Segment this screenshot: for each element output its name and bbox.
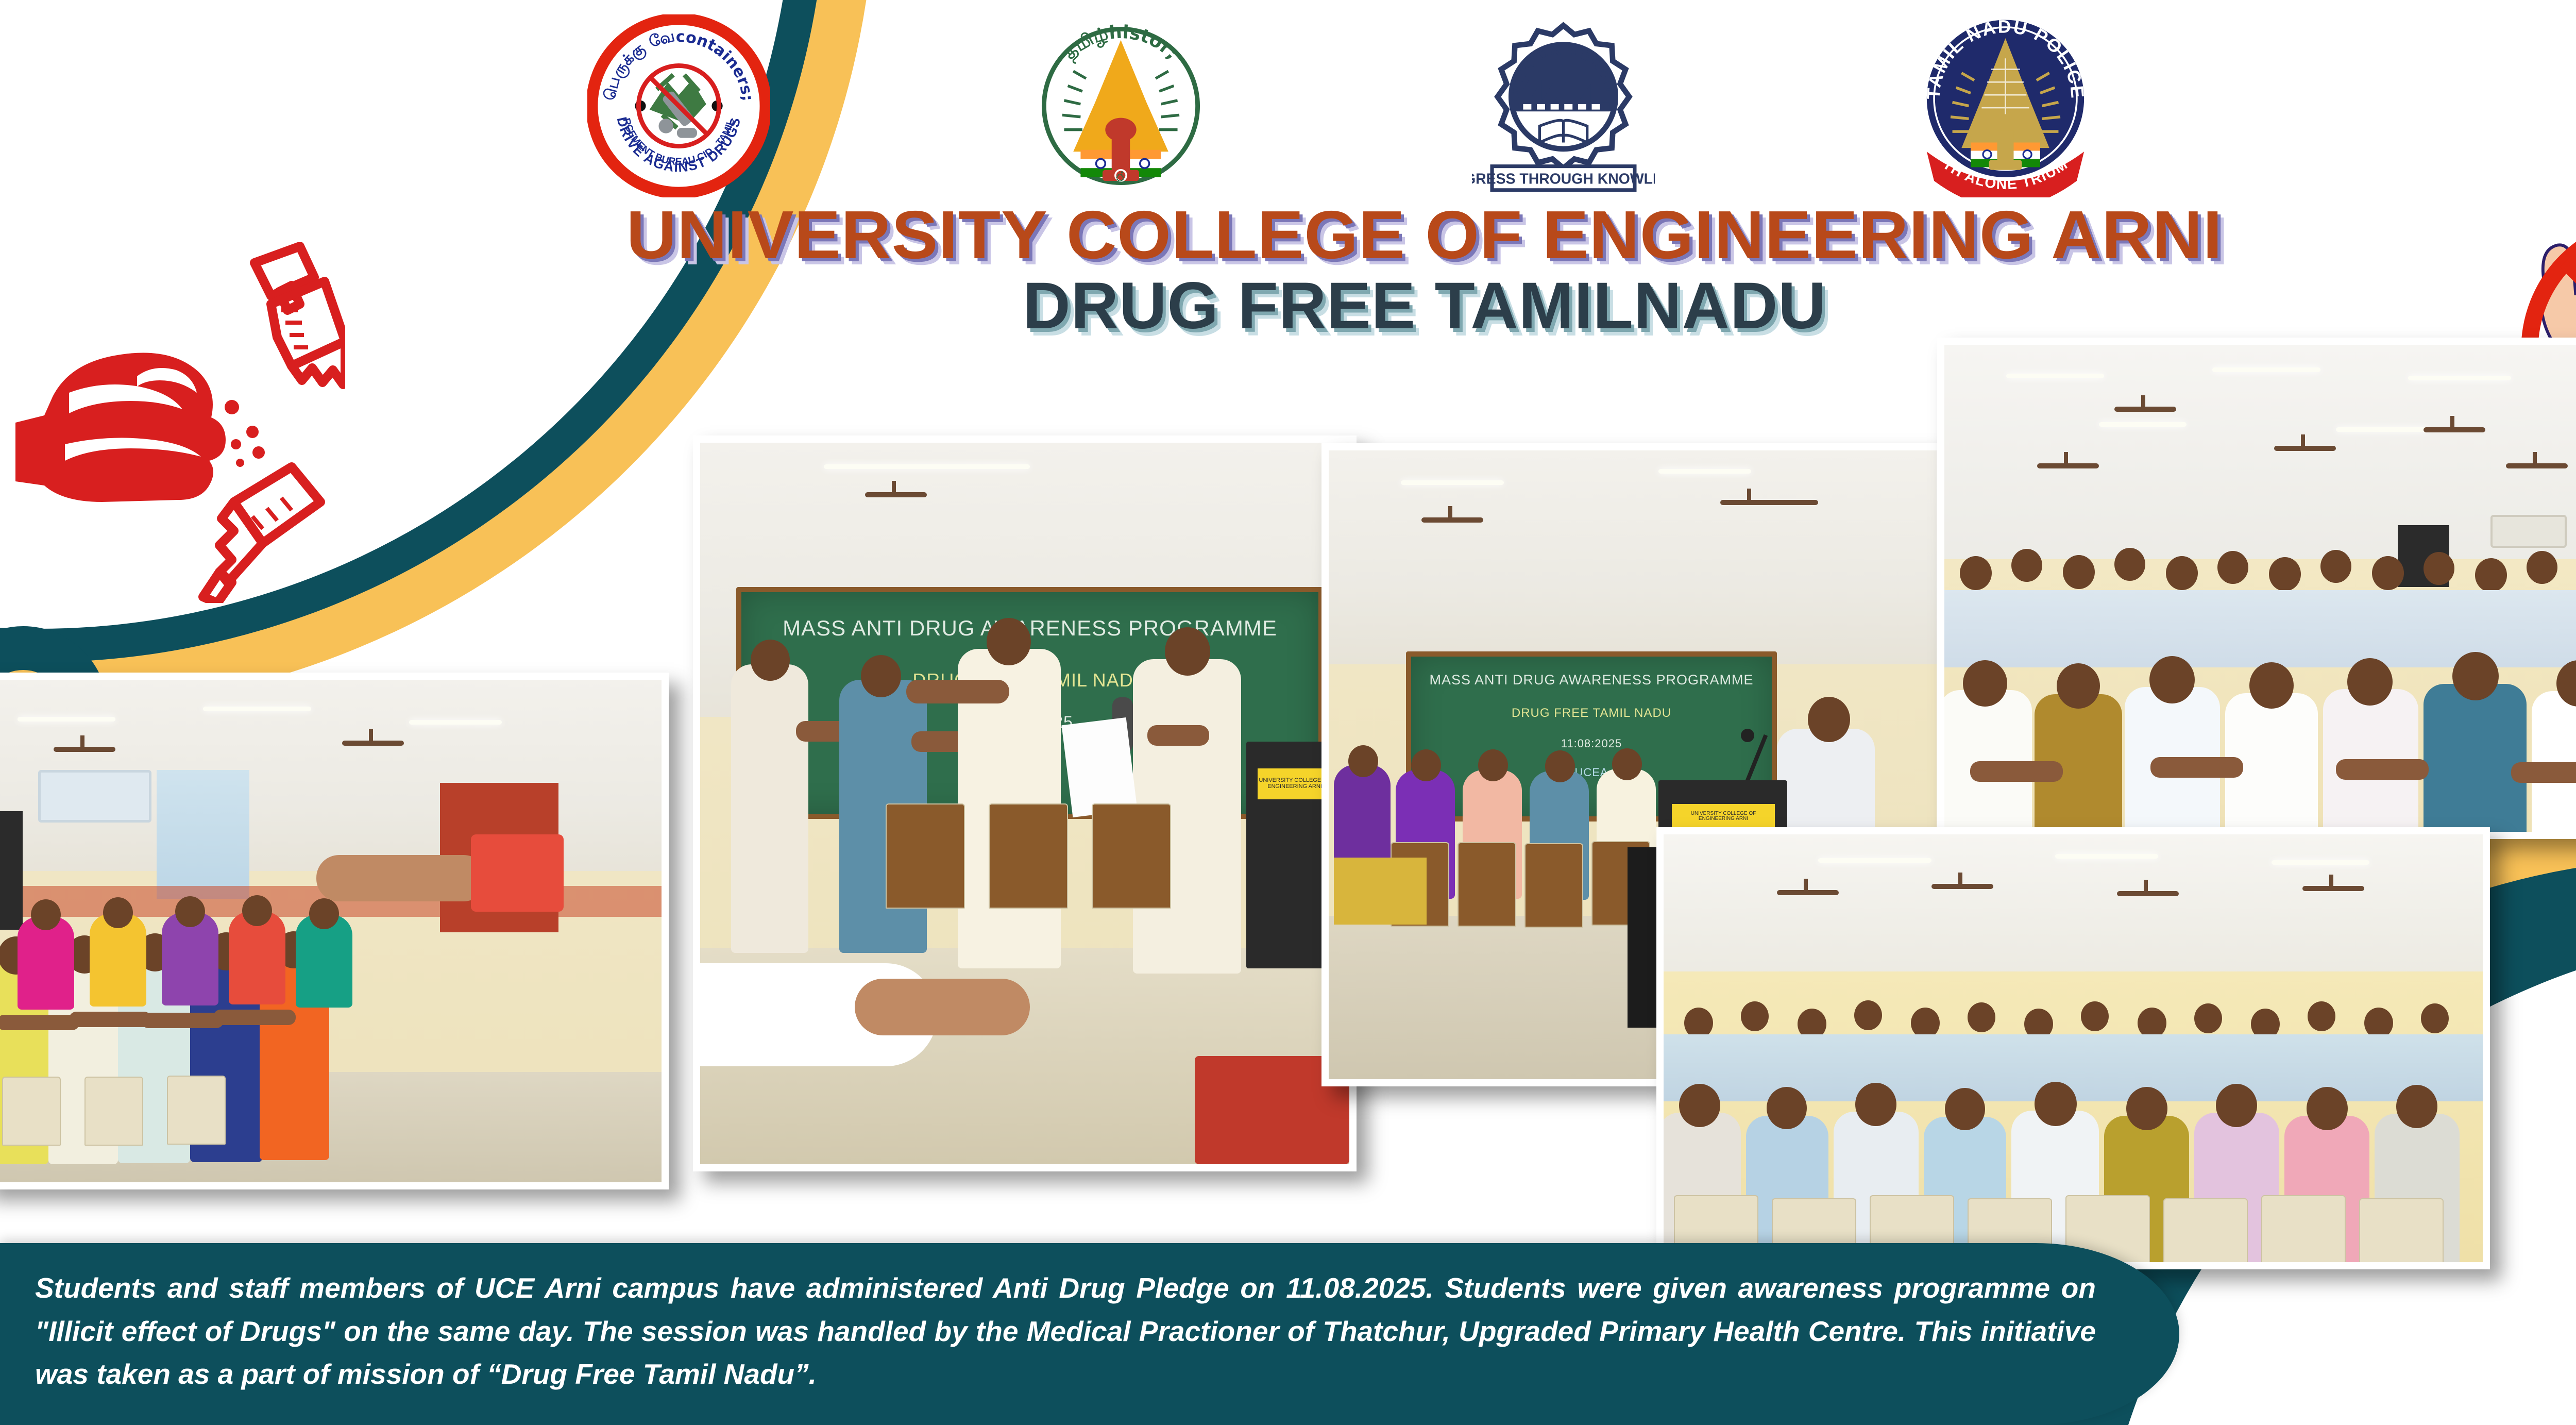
tamil-nadu-government-emblem: தமிழ்histor; ் xyxy=(1029,14,1212,197)
page-title: UNIVERSITY COLLEGE OF ENGINEERING ARNI xyxy=(0,201,2576,269)
blackboard-line-3: 11:08:2025 xyxy=(1411,737,1772,750)
blackboard-line-2: DRUG FREE TAMIL NADU xyxy=(1411,706,1772,720)
logo-row: பெருக்கு வேcontainers; DRIVE AGAINST DR… xyxy=(587,14,2097,200)
podium-sign: UNIVERSITY COLLEGE OF ENGINEERING ARNI xyxy=(1258,768,1332,799)
poster-canvas: பெருக்கு வேcontainers; DRIVE AGAINST DR… xyxy=(0,0,2576,1425)
photo-stage-speakers: MASS ANTI DRUG AWARENESS PROGRAMME DRUG … xyxy=(693,435,1357,1171)
photo-crowd-pledge xyxy=(1937,338,2576,839)
anna-university-logo: ANNA UNIVERSITY PROGRESS THROUGH KNOWLED… xyxy=(1472,14,1655,197)
tamil-nadu-police-logo: TRUTH ALONE TRIUMPHS TAMIL NADU POLICE xyxy=(1914,14,2097,197)
svg-text:PROGRESS THROUGH KNOWLEDGE: PROGRESS THROUGH KNOWLEDGE xyxy=(1472,171,1655,187)
podium-sign: UNIVERSITY COLLEGE OF ENGINEERING ARNI xyxy=(1672,804,1775,829)
caption-bar: Students and staff members of UCE Arni c… xyxy=(0,1243,2179,1425)
svg-text:்: ் xyxy=(1115,169,1127,184)
photo-hall-audience xyxy=(1656,827,2490,1269)
caption-text: Students and staff members of UCE Arni c… xyxy=(35,1267,2096,1396)
photo-students-pledge xyxy=(0,673,669,1189)
page-subtitle: DRUG FREE TAMILNADU xyxy=(0,273,2576,339)
blackboard-line-1: MASS ANTI DRUG AWARENESS PROGRAMME xyxy=(1411,672,1772,688)
blackboard-line-4: UCEA xyxy=(1411,766,1772,779)
title-block: UNIVERSITY COLLEGE OF ENGINEERING ARNI D… xyxy=(0,201,2576,339)
drive-against-drugs-logo: பெருக்கு வேcontainers; DRIVE AGAINST DR… xyxy=(587,14,770,197)
